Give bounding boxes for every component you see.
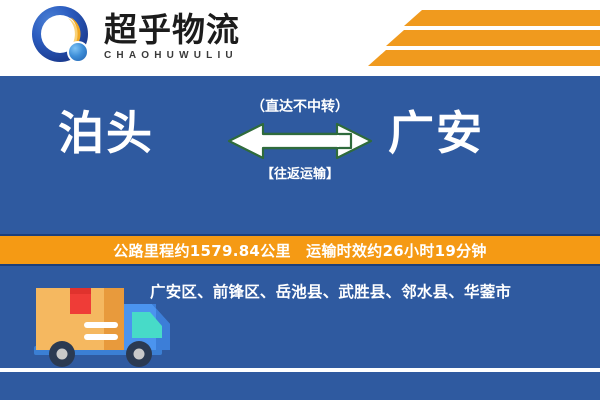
delivery-truck-icon [26, 268, 186, 374]
distance-duration-text: 公路里程约1579.84公里 运输时效约26小时19分钟 [113, 240, 486, 261]
main-panel: 泊头 （直达不中转） 【往返运输】 [0, 76, 600, 400]
road-line [0, 368, 600, 372]
direct-route-note: （直达不中转） [225, 100, 375, 114]
coverage-list: 广安区、前锋区、岳池县、武胜县、邻水县、华蓥市 [150, 280, 511, 302]
route-middle: （直达不中转） 【往返运输】 [225, 100, 375, 220]
brand-logo[interactable]: 超乎物流 CHAOHUWULIU [32, 6, 240, 68]
destination-city: 广安 [388, 110, 484, 156]
brand-name-pinyin: CHAOHUWULIU [104, 50, 240, 61]
double-headed-arrow-icon [225, 120, 375, 162]
logistics-route-poster: 超乎物流 CHAOHUWULIU 泊头 （直达不中转） [0, 0, 600, 400]
round-trip-note: 【往返运输】 [225, 168, 375, 181]
route-row: 泊头 （直达不中转） 【往返运输】 [0, 76, 600, 232]
coverage-area: 广安区、前锋区、岳池县、武胜县、邻水县、华蓥市 [150, 276, 590, 306]
header: 超乎物流 CHAOHUWULIU [0, 0, 600, 72]
orange-speed-stripes-icon [340, 8, 600, 66]
circle-crescent-logo-icon [32, 6, 94, 68]
origin-city: 泊头 [58, 110, 154, 156]
info-bar: 公路里程约1579.84公里 运输时效约26小时19分钟 [0, 234, 600, 266]
brand-name-cn: 超乎物流 [104, 13, 240, 48]
